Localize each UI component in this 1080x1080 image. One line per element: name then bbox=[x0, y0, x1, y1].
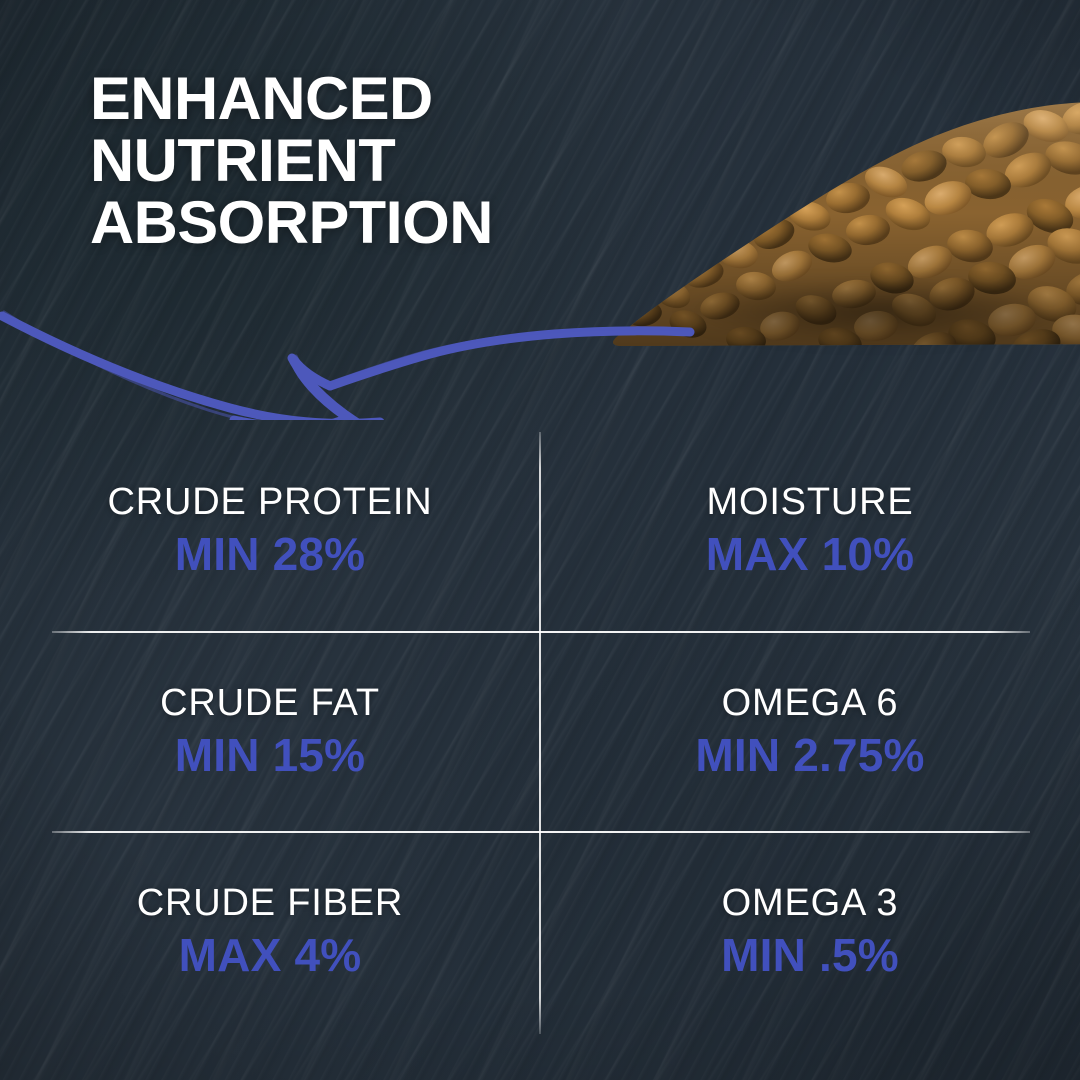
nutrient-value: MAX 10% bbox=[706, 527, 914, 581]
nutrient-label: OMEGA 6 bbox=[722, 680, 899, 726]
nutrient-cell-moisture: MOISTURE MAX 10% bbox=[540, 430, 1080, 630]
nutrient-label: MOISTURE bbox=[707, 479, 914, 525]
nutrient-cell-omega-6: OMEGA 6 MIN 2.75% bbox=[540, 631, 1080, 831]
nutrient-cell-crude-fiber: CRUDE FIBER MAX 4% bbox=[0, 831, 540, 1031]
headline-line-1: ENHANCED bbox=[90, 68, 661, 130]
nutrient-label: CRUDE FIBER bbox=[137, 880, 403, 926]
hand-drawn-curved-arrow bbox=[0, 250, 700, 420]
nutrient-value: MIN .5% bbox=[721, 928, 899, 982]
nutrient-label: CRUDE FAT bbox=[160, 680, 380, 726]
guaranteed-analysis-grid: CRUDE PROTEIN MIN 28% MOISTURE MAX 10% C… bbox=[0, 430, 1080, 1050]
headline-line-3: ABSORPTION bbox=[90, 192, 661, 254]
nutrient-label: OMEGA 3 bbox=[722, 880, 899, 926]
nutrient-cell-crude-fat: CRUDE FAT MIN 15% bbox=[0, 631, 540, 831]
nutrient-value: MAX 4% bbox=[179, 928, 362, 982]
nutrient-label: CRUDE PROTEIN bbox=[108, 479, 433, 525]
nutrient-value: MIN 28% bbox=[175, 527, 366, 581]
page-title: ENHANCED NUTRIENT ABSORPTION bbox=[90, 68, 661, 254]
headline-line-2: NUTRIENT bbox=[90, 130, 661, 192]
guaranteed-analysis-panel: ENHANCED NUTRIENT ABSORPTION CRUDE PROTE… bbox=[0, 0, 1080, 1080]
nutrient-cell-crude-protein: CRUDE PROTEIN MIN 28% bbox=[0, 430, 540, 630]
nutrient-cell-omega-3: OMEGA 3 MIN .5% bbox=[540, 831, 1080, 1031]
nutrient-value: MIN 2.75% bbox=[695, 728, 924, 782]
nutrient-value: MIN 15% bbox=[175, 728, 366, 782]
